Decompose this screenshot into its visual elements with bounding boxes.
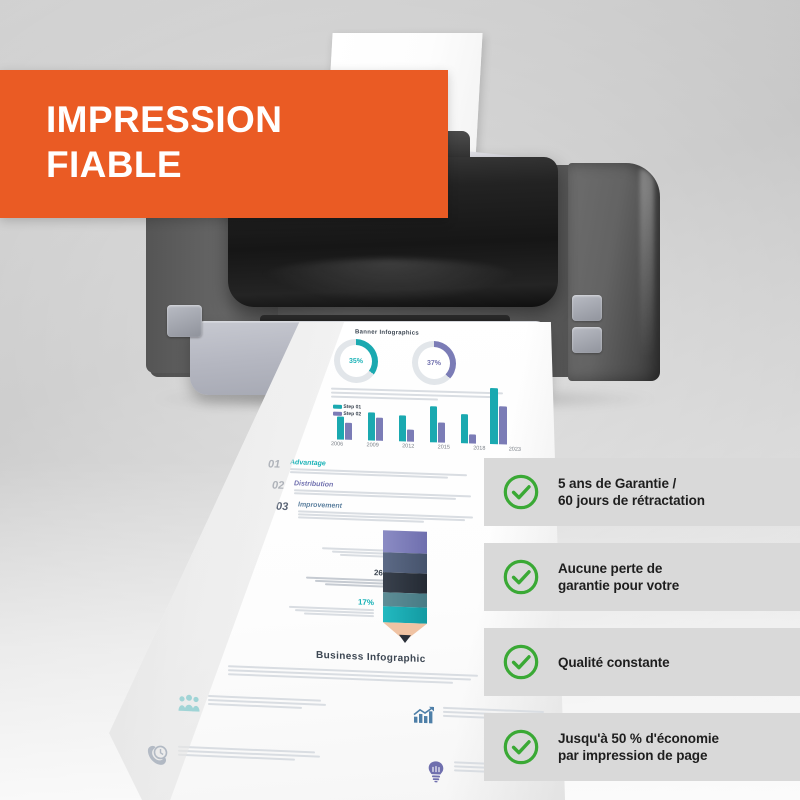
feature-box-4[interactable]: Jusqu'à 50 % d'économie par impression d…: [484, 713, 800, 781]
lightbulb-icon: [426, 760, 446, 783]
bar-group-2018: [459, 381, 487, 444]
x-tick-2009: 2009: [367, 442, 379, 448]
step-number-03: 03: [276, 501, 298, 519]
bar-group-2023: [488, 382, 516, 445]
step-item-02: 02 Distribution: [268, 479, 478, 500]
feature-box-2[interactable]: Aucune perte de garantie pour votre: [484, 543, 800, 611]
printer-cover-gloss: [250, 259, 530, 303]
feature-text-4: Jusqu'à 50 % d'économie par impression d…: [558, 730, 719, 764]
promo-image-canvas: Banner Infographics 35% 37% Step 01 Step…: [0, 0, 800, 800]
feature-box-1[interactable]: 5 ans de Garantie / 60 jours de rétracta…: [484, 458, 800, 526]
page-title: IMPRESSION FIABLE: [0, 70, 448, 187]
check-circle-icon: [502, 728, 540, 766]
headline-line-2: FIABLE: [46, 144, 182, 185]
feature-4-line-1: Jusqu'à 50 % d'économie: [558, 730, 719, 747]
pencil-stat-3-value: 17%: [228, 593, 374, 608]
check-circle-icon: [502, 558, 540, 596]
feature-1-line-1: 5 ans de Garantie /: [558, 475, 705, 492]
donut-chart-2: 37%: [412, 340, 456, 385]
feature-1-line-2: 60 jours de rétractation: [558, 492, 705, 509]
x-tick-2015: 2015: [438, 444, 450, 450]
feature-2-line-2: garantie pour votre: [558, 577, 679, 594]
bar-group-2009: [366, 378, 394, 441]
pencil-graphic: [383, 530, 427, 642]
printer-button-left[interactable]: [167, 305, 202, 337]
bar-group-2012: [397, 379, 425, 442]
check-circle-icon: [502, 473, 540, 511]
check-circle-icon: [502, 643, 540, 681]
feature-3-line-1: Qualité constante: [558, 654, 670, 671]
growth-chart-icon: [413, 706, 435, 725]
printer-right-highlight: [640, 169, 654, 359]
headline-banner: IMPRESSION FIABLE: [0, 70, 448, 218]
x-tick-2006: 2006: [331, 441, 343, 447]
printer-button-right-bottom[interactable]: [572, 327, 602, 353]
feature-text-3: Qualité constante: [558, 654, 670, 671]
step-list: 01 Advantage 02 Distribution 03 Impro: [268, 458, 478, 524]
x-tick-2018: 2018: [473, 445, 485, 451]
printer-button-right-top[interactable]: [572, 295, 602, 321]
bar-chart: [333, 377, 513, 444]
bar-group-2006: [335, 377, 363, 440]
headline-line-1: IMPRESSION: [46, 99, 282, 140]
feature-box-3[interactable]: Qualité constante: [484, 628, 800, 696]
feature-2-line-1: Aucune perte de: [558, 560, 679, 577]
feature-text-1: 5 ans de Garantie / 60 jours de rétracta…: [558, 475, 705, 509]
x-tick-2023: 2023: [509, 446, 521, 452]
bar-group-2015: [428, 380, 456, 443]
feature-text-2: Aucune perte de garantie pour votre: [558, 560, 679, 594]
x-tick-2012: 2012: [402, 443, 414, 449]
donut-2-label: 37%: [412, 340, 456, 385]
feature-4-line-2: par impression de page: [558, 747, 719, 764]
